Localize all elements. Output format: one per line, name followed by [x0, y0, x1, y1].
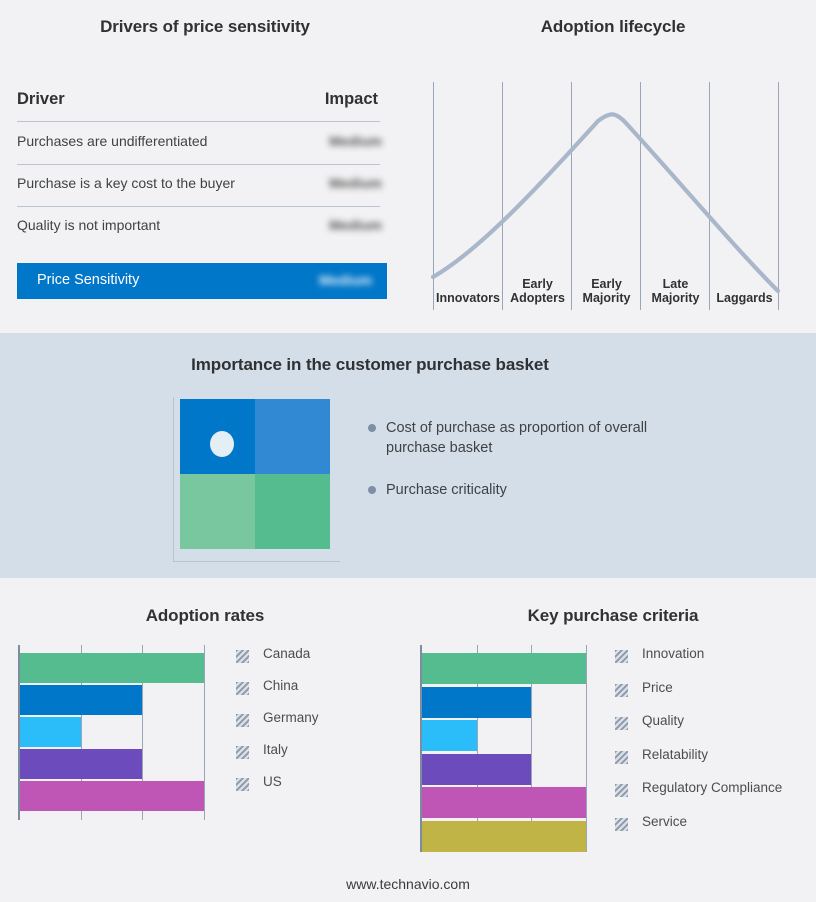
- legend-label: Innovation: [642, 646, 704, 661]
- legend-swatch-icon: [615, 650, 628, 663]
- adoption-bell-curve: [433, 114, 778, 291]
- legend-swatch-icon: [236, 714, 249, 727]
- bar: [20, 781, 204, 811]
- column-header-driver: Driver: [17, 90, 65, 109]
- driver-label: Purchase is a key cost to the buyer: [17, 175, 235, 191]
- impact-value-redacted: Medium: [329, 133, 382, 149]
- price-sensitivity-label: Price Sensitivity: [37, 272, 139, 288]
- bar: [422, 821, 586, 852]
- gridline: [204, 645, 205, 820]
- footer-url: www.technavio.com: [0, 876, 816, 892]
- bar: [422, 787, 586, 818]
- legend-swatch-icon: [615, 818, 628, 831]
- key-purchase-criteria-panel: InnovationPriceQualityRelatabilityRegula…: [410, 578, 816, 902]
- legend-label: Cost of purchase as proportion of overal…: [386, 418, 658, 458]
- matrix-axis-x: [173, 561, 340, 562]
- legend-label: Relatability: [642, 747, 708, 762]
- lifecycle-label-laggards: Laggards: [710, 291, 779, 305]
- bar: [20, 653, 204, 683]
- drivers-title: Drivers of price sensitivity: [0, 17, 410, 37]
- importance-title: Importance in the customer purchase bask…: [0, 355, 740, 375]
- lifecycle-label-innovators: Innovators: [433, 291, 503, 305]
- matrix-quadrant-bottom-right: [255, 474, 330, 549]
- matrix-position-marker: [210, 431, 234, 457]
- legend-swatch-icon: [615, 751, 628, 764]
- legend-swatch-icon: [236, 746, 249, 759]
- bar: [20, 685, 142, 715]
- bar: [422, 653, 586, 684]
- bar: [422, 754, 531, 785]
- legend-label: Germany: [263, 710, 319, 725]
- adoption-rates-panel: CanadaChinaGermanyItalyUS: [0, 578, 410, 902]
- table-row: Purchases are undifferentiated Medium: [17, 123, 392, 165]
- importance-matrix: [180, 399, 330, 549]
- table-row: Quality is not important Medium: [17, 207, 392, 249]
- legend-item: Cost of purchase as proportion of overal…: [368, 418, 658, 458]
- legend-label: Service: [642, 814, 687, 829]
- legend-label: Price: [642, 680, 673, 695]
- importance-legend: Cost of purchase as proportion of overal…: [368, 418, 658, 522]
- legend-label: China: [263, 678, 298, 693]
- table-row: Purchase is a key cost to the buyer Medi…: [17, 165, 392, 207]
- lifecycle-label-early-majority: Early Majority: [572, 277, 641, 305]
- bullet-icon: [368, 486, 376, 494]
- impact-value-redacted: Medium: [329, 175, 382, 191]
- column-header-impact: Impact: [325, 90, 378, 109]
- bar: [20, 749, 142, 779]
- key-purchase-criteria-title: Key purchase criteria: [410, 606, 816, 626]
- lifecycle-label-late-majority: Late Majority: [641, 277, 710, 305]
- lifecycle-label-early-adopters: Early Adopters: [503, 277, 572, 305]
- legend-swatch-icon: [615, 784, 628, 797]
- legend-label: Regulatory Compliance: [642, 780, 782, 795]
- legend-swatch-icon: [615, 684, 628, 697]
- driver-label: Purchases are undifferentiated: [17, 133, 207, 149]
- legend-label: Quality: [642, 713, 684, 728]
- lifecycle-panel: Innovators Early Adopters Early Majority…: [410, 0, 816, 333]
- bullet-icon: [368, 424, 376, 432]
- importance-matrix-wrap: [180, 399, 330, 549]
- matrix-quadrant-top-right: [255, 399, 330, 474]
- legend-swatch-icon: [236, 778, 249, 791]
- legend-label: Canada: [263, 646, 310, 661]
- header-rule: [17, 121, 380, 122]
- lifecycle-title: Adoption lifecycle: [410, 17, 816, 37]
- legend-swatch-icon: [236, 682, 249, 695]
- adoption-rates-title: Adoption rates: [0, 606, 410, 626]
- bar: [422, 687, 531, 718]
- matrix-quadrant-bottom-left: [180, 474, 255, 549]
- legend-swatch-icon: [236, 650, 249, 663]
- matrix-axis-y: [173, 397, 174, 561]
- price-sensitivity-highlight-bar: Price Sensitivity Medium: [17, 263, 387, 299]
- adoption-rates-plot: [18, 645, 222, 820]
- bar: [422, 720, 477, 751]
- key-purchase-criteria-plot: [420, 645, 602, 852]
- gridline: [586, 645, 587, 852]
- legend-label: US: [263, 774, 282, 789]
- price-sensitivity-impact-redacted: Medium: [319, 272, 372, 288]
- drivers-table: Driver Impact Purchases are undifferenti…: [17, 90, 392, 299]
- legend-label: Purchase criticality: [386, 480, 658, 500]
- table-row-highlight: Price Sensitivity Medium: [17, 263, 392, 299]
- legend-swatch-icon: [615, 717, 628, 730]
- driver-label: Quality is not important: [17, 217, 160, 233]
- legend-label: Italy: [263, 742, 288, 757]
- legend-item: Purchase criticality: [368, 480, 658, 500]
- impact-value-redacted: Medium: [329, 217, 382, 233]
- drivers-table-header: Driver Impact: [17, 90, 392, 123]
- bar: [20, 717, 81, 747]
